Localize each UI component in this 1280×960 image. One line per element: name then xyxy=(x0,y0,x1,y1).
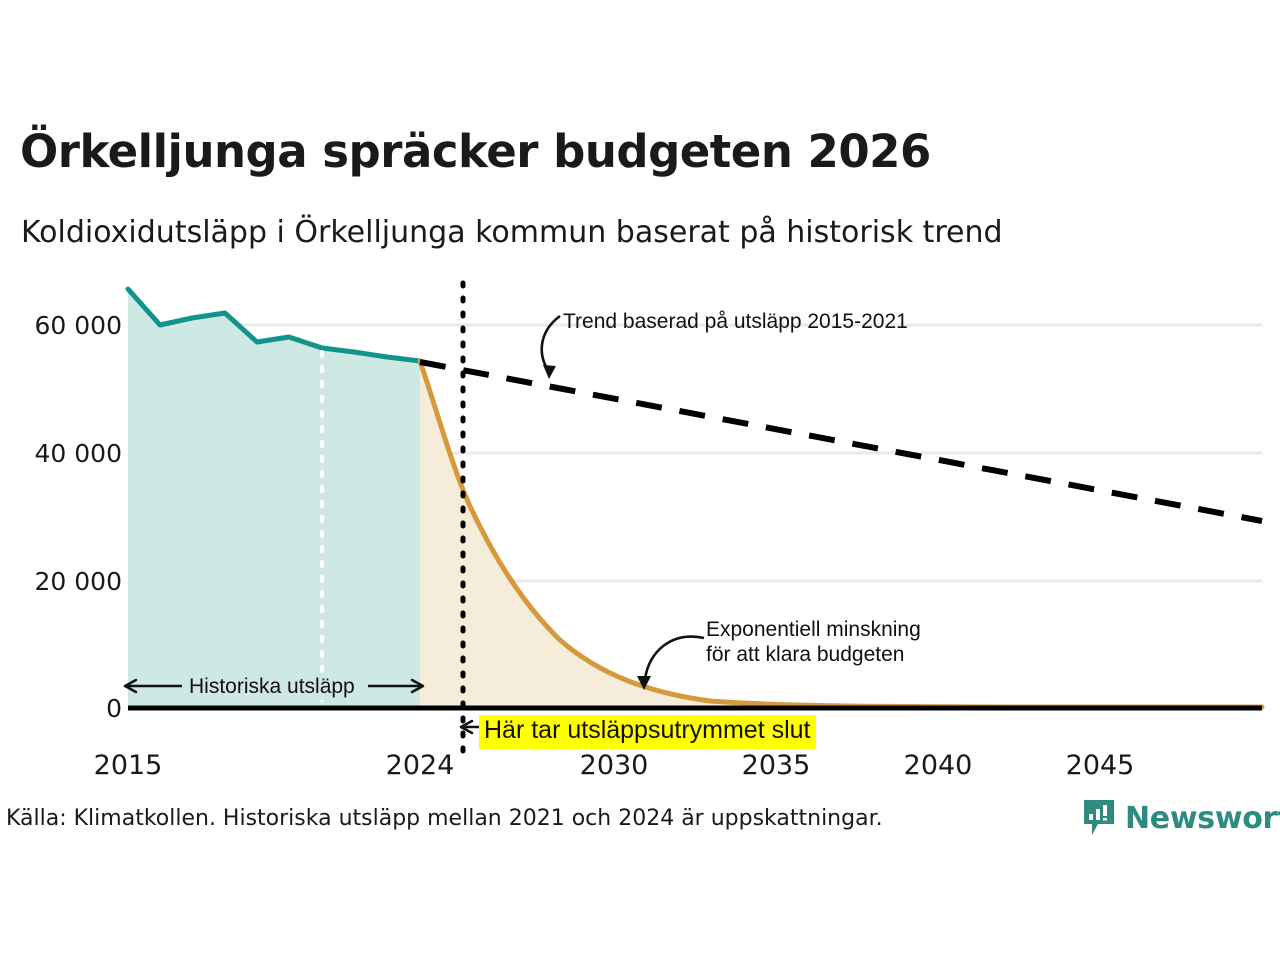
newsworthy-wordmark: Newsworthy xyxy=(1125,801,1280,836)
historic-emissions-area xyxy=(128,289,420,708)
exponential-annotation-line2: för att klara budgeten xyxy=(706,643,921,668)
historic-span-label: Historiska utsläpp xyxy=(183,675,361,700)
y-tick-label-40000: 40 000 xyxy=(12,439,122,468)
y-tick-label-0: 0 xyxy=(12,694,122,723)
exponential-annotation-label: Exponentiell minskning för att klara bud… xyxy=(706,618,921,668)
newsworthy-logo: Newsworthy xyxy=(1082,798,1280,838)
x-tick-label-2024: 2024 xyxy=(360,750,480,781)
x-tick-label-2030: 2030 xyxy=(554,750,674,781)
trend-annotation-label: Trend baserad på utsläpp 2015-2021 xyxy=(563,310,908,335)
budget-end-label: Här tar utsläppsutrymmet slut xyxy=(479,715,816,749)
x-tick-label-2035: 2035 xyxy=(716,750,836,781)
trend-line xyxy=(420,362,1262,521)
chart-page: Örkelljunga spräcker budgeten 2026 Koldi… xyxy=(0,0,1280,960)
bar-chart-bubble-icon xyxy=(1082,798,1116,838)
source-note: Källa: Klimatkollen. Historiska utsläpp … xyxy=(6,806,883,831)
x-tick-label-2040: 2040 xyxy=(878,750,998,781)
y-tick-label-20000: 20 000 xyxy=(12,567,122,596)
exponential-annotation-arrow xyxy=(637,637,704,690)
x-tick-label-2045: 2045 xyxy=(1040,750,1160,781)
exponential-annotation-line1: Exponentiell minskning xyxy=(706,618,921,643)
x-tick-label-2015: 2015 xyxy=(68,750,188,781)
y-tick-label-60000: 60 000 xyxy=(12,311,122,340)
